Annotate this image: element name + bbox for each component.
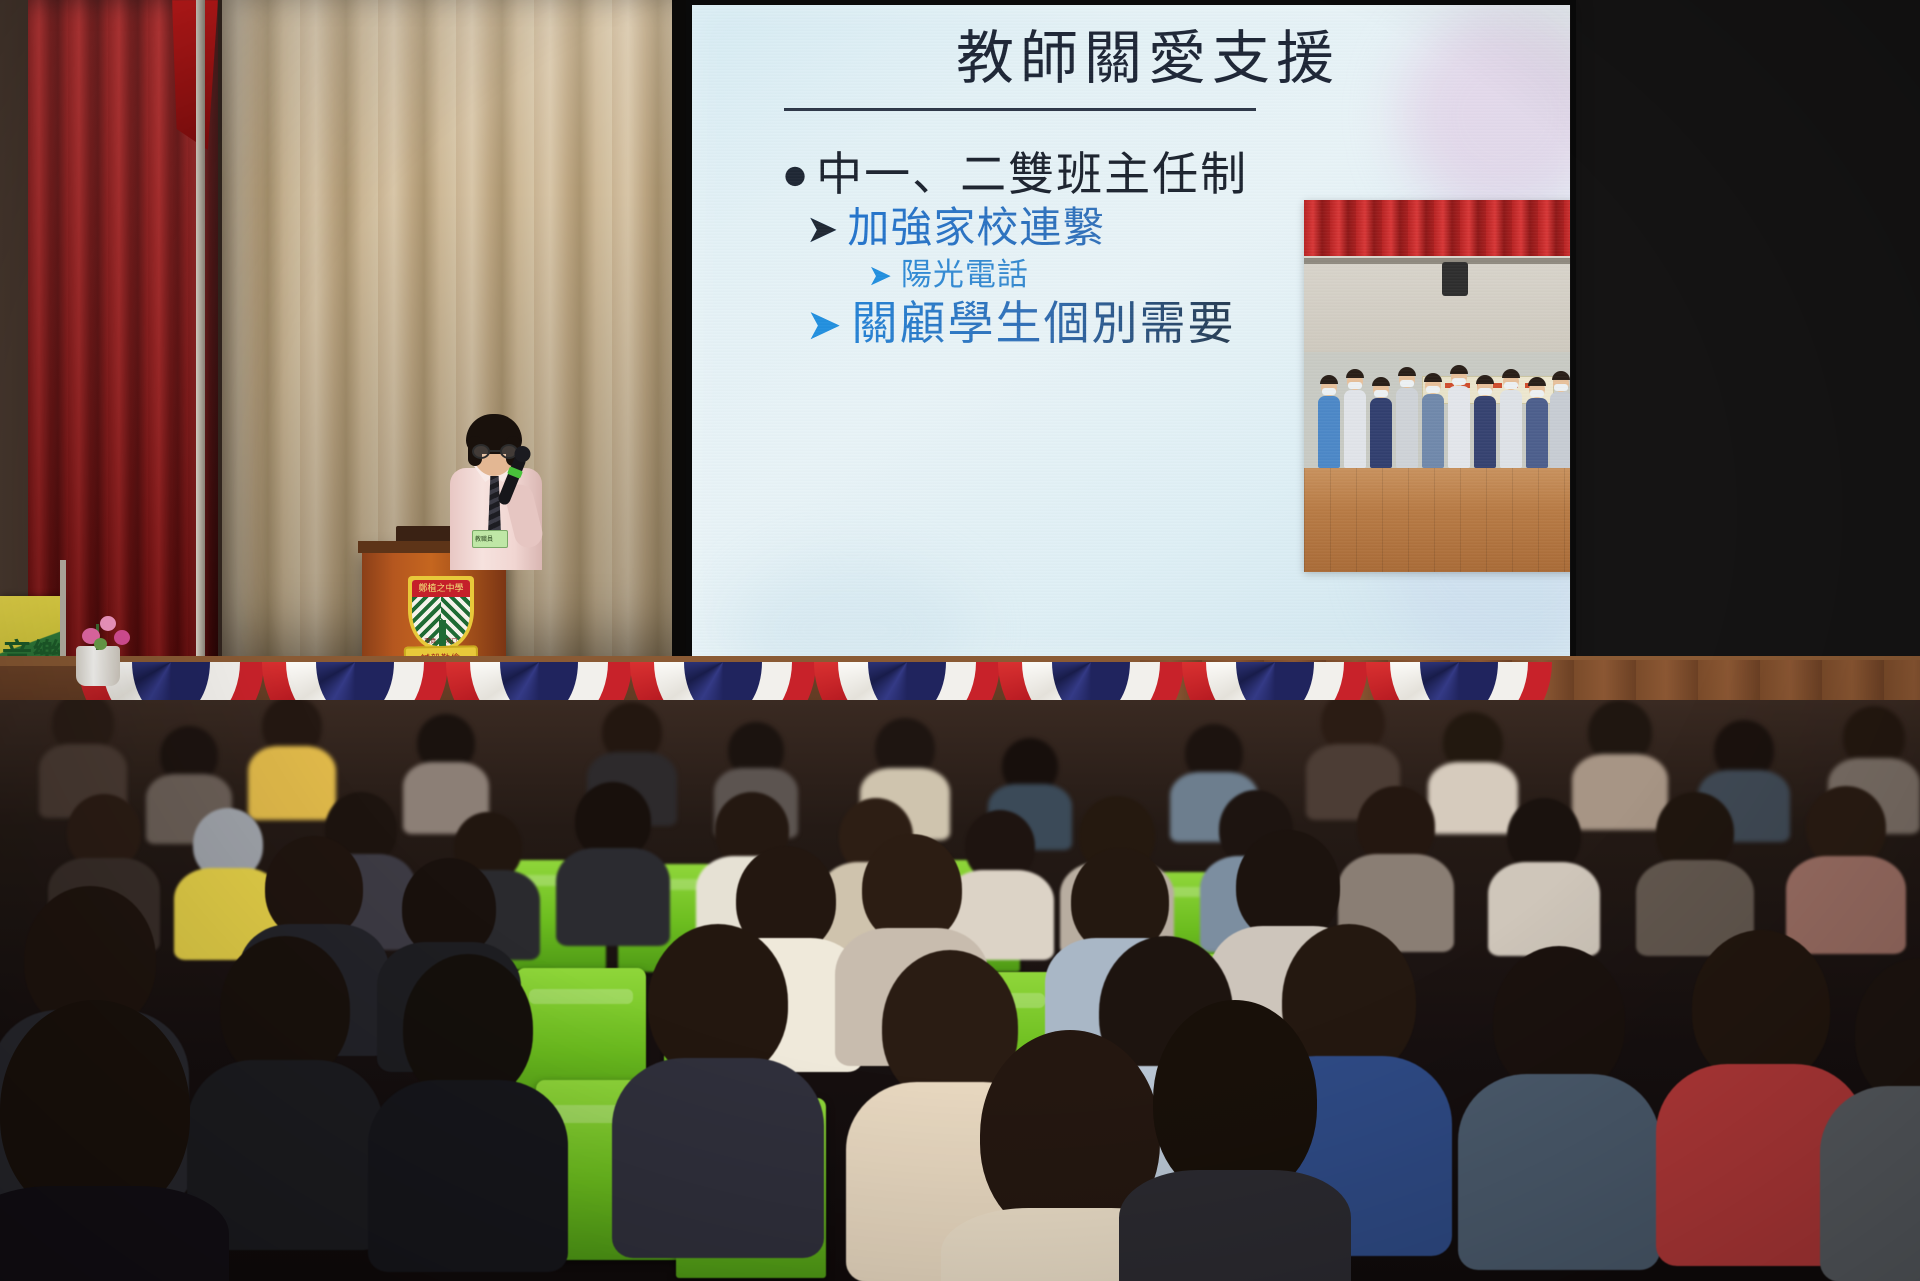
audience-person [1468, 946, 1650, 1256]
emblem-name-band: 鄭植之中學 [412, 580, 470, 597]
emblem-footer-right: 坑口 [446, 638, 458, 645]
slide-bullet-text: 關顧學生個別需要 [851, 296, 1235, 350]
audience-person [1790, 786, 1902, 948]
emblem-shield: 鄭植之中學 西貢 坑口 [408, 576, 474, 650]
audience-person-foreground [0, 1000, 220, 1281]
emblem-footer-text: 西貢 坑口 [412, 636, 470, 645]
audience-person [560, 782, 666, 940]
arrow-right-icon: ➤ [868, 257, 893, 294]
inset-student [1370, 398, 1392, 468]
audience-area [0, 700, 1920, 1281]
audience-person [622, 924, 814, 1242]
presentation-hall-scene: 教師關愛支援 ●中一、二雙班主任制 ➤加強家校連繫 ➤陽光電話 ➤關顧學生個別需… [0, 0, 1920, 1281]
emblem-shield-inner: 鄭植之中學 西貢 坑口 [412, 580, 470, 646]
slide-bullet-item-1: ●中一、二雙班主任制 [784, 146, 1544, 202]
inset-wall-band [1304, 258, 1570, 264]
audience-person [1640, 792, 1750, 950]
inset-back-wall [1304, 256, 1570, 352]
inset-student [1526, 398, 1548, 468]
eyeglasses-icon [472, 444, 518, 459]
emblem-footer-left: 西貢 [424, 638, 436, 645]
projection-screen: 教師關愛支援 ●中一、二雙班主任制 ➤加強家校連繫 ➤陽光電話 ➤關顧學生個別需… [692, 0, 1570, 662]
inset-wooden-floor [1304, 468, 1570, 572]
inset-student [1396, 388, 1418, 468]
audience-person [378, 954, 558, 1254]
arrow-right-icon: ➤ [806, 206, 839, 255]
slide-bullet-text: 中一、二雙班主任制 [816, 147, 1248, 201]
flower-leaf [94, 638, 107, 650]
flower-bloom [114, 630, 130, 645]
inset-student [1448, 386, 1470, 468]
audience-person [196, 936, 374, 1236]
audience-person [1492, 798, 1596, 950]
inset-student [1318, 396, 1340, 468]
slide-title-underline [784, 108, 1256, 111]
inset-wall-speaker [1442, 262, 1468, 296]
slide-bullet-text: 陽光電話 [901, 257, 1029, 293]
inset-student [1500, 390, 1522, 468]
speaker-name-badge: 教職員 [472, 530, 508, 548]
speaker-presenter: 教職員 [432, 410, 560, 570]
inset-student [1344, 390, 1366, 468]
hall-wall-right [1560, 0, 1920, 660]
flower-bloom [100, 616, 116, 631]
slide-decor-blob [732, 560, 972, 662]
speaker-badge-text: 教職員 [475, 534, 493, 543]
emblem-school-name: 鄭植之中學 [412, 581, 470, 594]
bullet-dot-icon: ● [784, 160, 808, 191]
flower-pot [76, 612, 140, 686]
slide-photo-inset [1304, 200, 1570, 572]
flag-pole [196, 0, 205, 660]
audience-person [1830, 958, 1920, 1268]
inset-student [1474, 396, 1496, 468]
inset-student [1550, 392, 1570, 468]
audience-person-foreground [1130, 1000, 1340, 1281]
slide-title: 教師關愛支援 [692, 28, 1570, 89]
slide-bullet-text: 加強家校連繫 [847, 203, 1105, 252]
inset-student [1422, 394, 1444, 468]
arrow-right-icon: ➤ [806, 299, 843, 351]
flower-vase [76, 646, 120, 686]
